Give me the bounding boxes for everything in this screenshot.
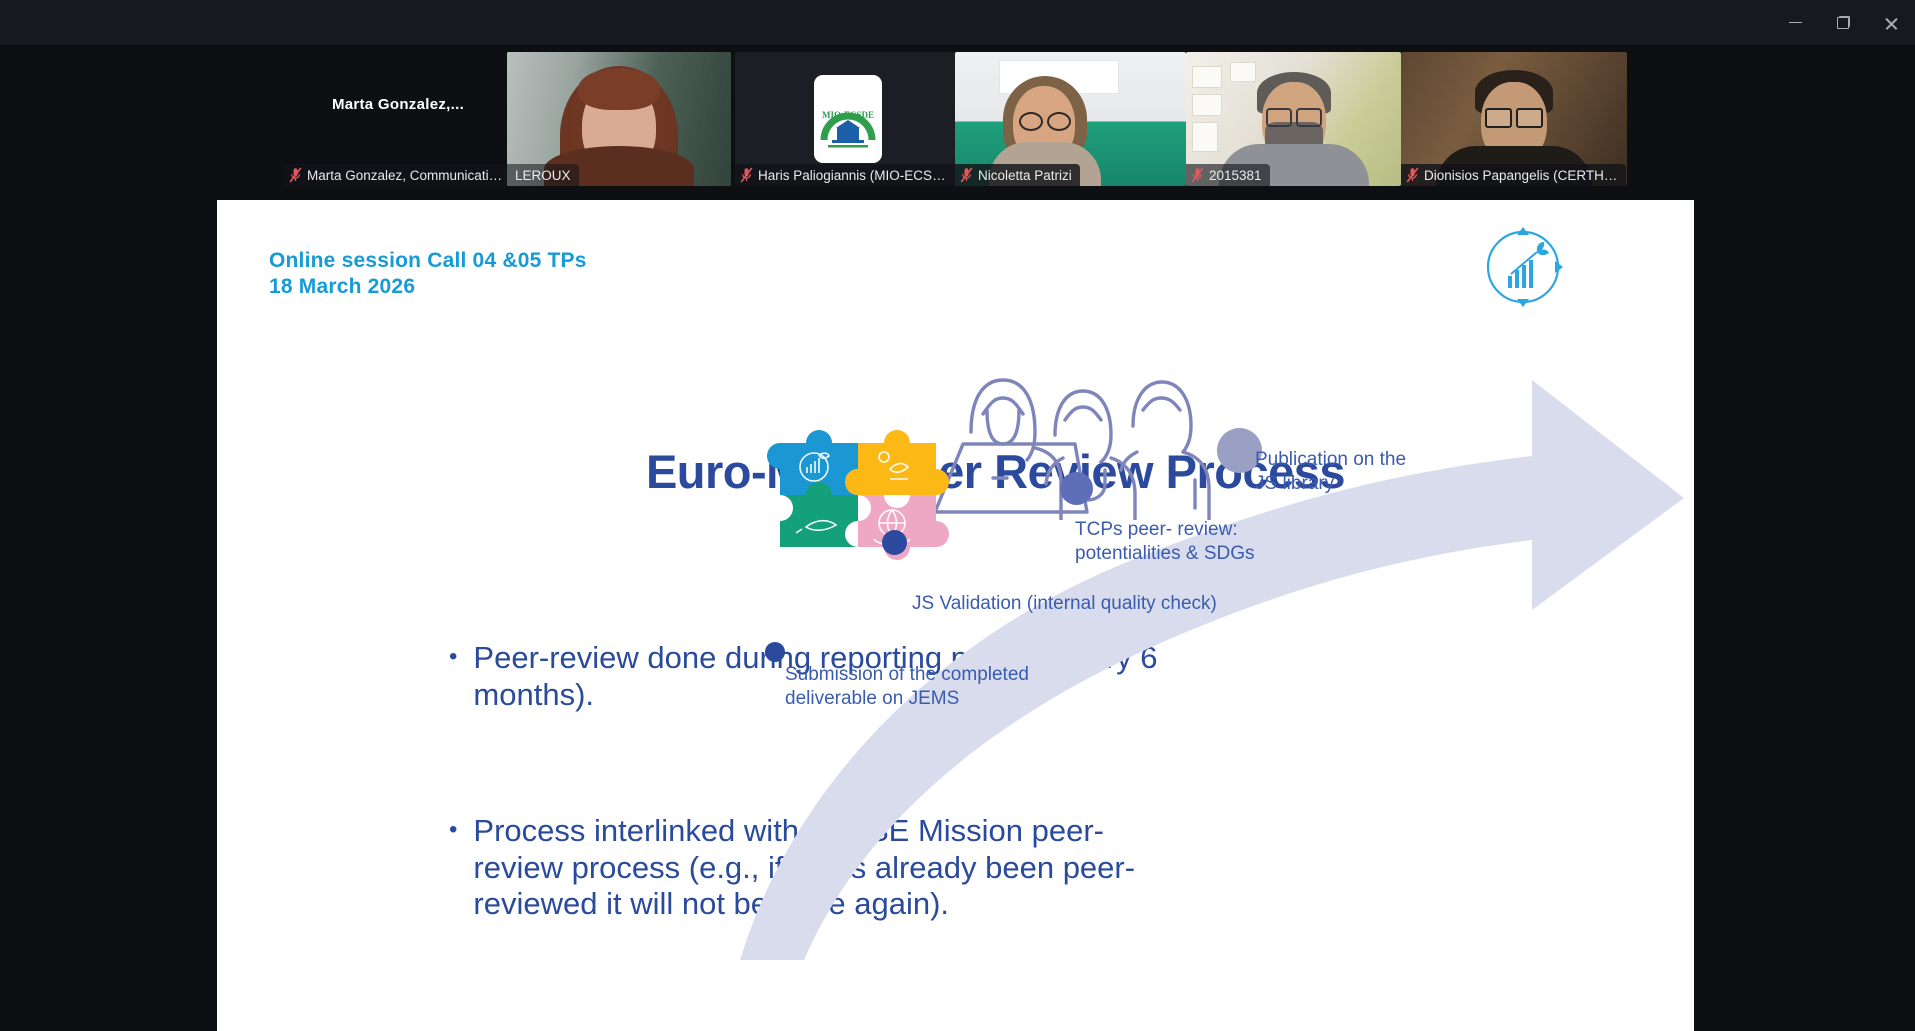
step-label-2: JS Validation (internal quality check) [912, 592, 1262, 616]
mic-muted-icon [289, 167, 302, 183]
participant-namebar: Haris Paliogiannis (MIO-ECSDE) [735, 164, 960, 186]
restore-icon [1837, 16, 1850, 29]
restore-button[interactable] [1819, 0, 1867, 45]
participant-namebar: Nicoletta Patrizi [955, 164, 1080, 186]
slide-kicker-line2: 18 March 2026 [269, 274, 587, 300]
close-icon [1884, 15, 1899, 30]
step-dot-2 [882, 530, 907, 555]
participant-tile-dionisios[interactable]: Dionisios Papangelis (CERTH-BI... [1401, 52, 1627, 186]
shared-slide[interactable]: Online session Call 04 &05 TPs 18 March … [217, 200, 1694, 1031]
step-label-4: Publication on the JS library [1255, 448, 1420, 496]
participant-tile-leroux[interactable]: LEROUX [507, 52, 731, 186]
participant-tile-nicoletta[interactable]: Nicoletta Patrizi [955, 52, 1186, 186]
slide-kicker-line1: Online session Call 04 &05 TPs [269, 248, 587, 274]
step-dot-1 [765, 642, 785, 662]
bullet-marker: • [449, 640, 457, 713]
participant-name-label: Haris Paliogiannis (MIO-ECSDE) [758, 168, 952, 183]
slide-kicker: Online session Call 04 &05 TPs 18 March … [269, 248, 587, 301]
participant-name-label: LEROUX [515, 168, 571, 183]
participant-display-name: Marta Gonzalez,... [284, 52, 512, 156]
participant-name-label: Dionisios Papangelis (CERTH-BI... [1424, 168, 1618, 183]
mic-muted-icon [1406, 167, 1419, 183]
participant-namebar: 2015381 [1186, 164, 1270, 186]
participant-tile-haris[interactable]: MIO-ECSDE Haris Paliogiannis (MIO-ECSDE) [735, 52, 960, 186]
participant-namebar: Marta Gonzalez, Communication... [284, 164, 511, 186]
mio-ecsde-logo-icon: MIO-ECSDE [814, 75, 882, 163]
bullet-marker: • [449, 813, 457, 923]
participant-filmstrip: Marta Gonzalez,... Marta Gonzalez, Commu… [0, 52, 1915, 186]
step-label-1: Submission of the completed deliverable … [785, 663, 1055, 711]
step-label-3: TCPs peer- review: potentialities & SDGs [1075, 518, 1305, 566]
participant-name-label: Marta Gonzalez, Communication... [307, 168, 503, 183]
participant-name-label: Nicoletta Patrizi [978, 168, 1072, 183]
participant-namebar: LEROUX [507, 164, 579, 186]
mic-muted-icon [960, 167, 973, 183]
svg-text:MIO-ECSDE: MIO-ECSDE [821, 110, 873, 120]
participant-name-label: 2015381 [1209, 168, 1262, 183]
close-button[interactable] [1867, 0, 1915, 45]
participant-tile-marta[interactable]: Marta Gonzalez,... Marta Gonzalez, Commu… [284, 52, 512, 186]
mic-muted-icon [1191, 167, 1204, 183]
step-dot-3 [1060, 472, 1093, 505]
participant-tile-2015381[interactable]: 2015381 [1186, 52, 1401, 186]
minimize-button[interactable] [1771, 0, 1819, 45]
participant-namebar: Dionisios Papangelis (CERTH-BI... [1401, 164, 1626, 186]
mic-muted-icon [740, 167, 753, 183]
sustainable-growth-icon [1480, 224, 1566, 315]
minimize-icon [1789, 22, 1802, 24]
window-titlebar [0, 0, 1915, 45]
